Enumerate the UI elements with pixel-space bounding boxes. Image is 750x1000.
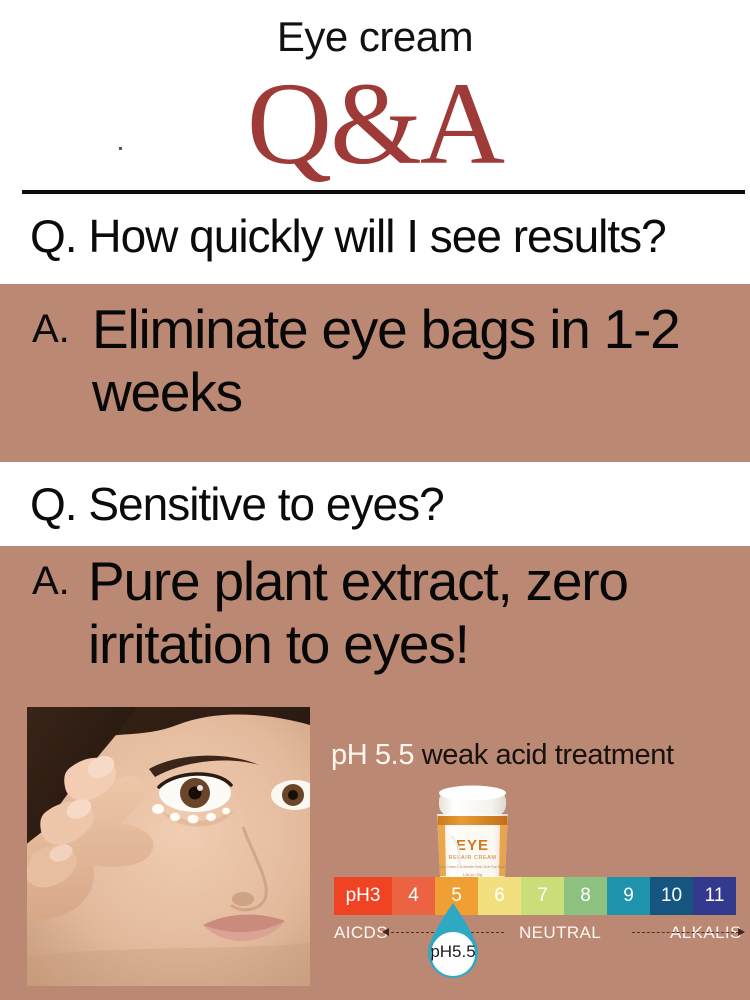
answer-marker: A. — [32, 558, 70, 604]
ph-axis: AICDS NEUTRAL ALKALIS — [334, 922, 746, 944]
answer-band-2: A. Pure plant extract, zero irritation t… — [0, 546, 750, 706]
svg-text:REPAIR CREAM: REPAIR CREAM — [449, 855, 497, 861]
axis-dash-right — [632, 932, 744, 934]
ph-cell-11: 11 — [693, 877, 736, 915]
question-marker: Q. — [30, 210, 77, 262]
question-marker: Q. — [30, 478, 77, 530]
answer-band-1: A. Eliminate eye bags in 1-2 weeks — [0, 284, 750, 462]
ph-marker-droplet: pH5.5 — [420, 902, 486, 982]
question-text: Sensitive to eyes? — [88, 478, 443, 530]
ph-value-highlight: pH 5.5 — [331, 739, 414, 771]
ph-headline: pH 5.5 weak acid treatment — [331, 738, 746, 772]
answer-text-2: Pure plant extract, zero irritation to e… — [88, 550, 738, 676]
question-text: How quickly will I see results? — [88, 210, 665, 262]
ph-cell-9: 9 — [607, 877, 650, 915]
question-band-2: Q. Sensitive to eyes? — [0, 462, 750, 546]
svg-text:EYE: EYE — [456, 837, 489, 854]
answer-marker: A. — [32, 306, 70, 352]
kicker-text: Eye cream — [0, 14, 750, 60]
ph-scale: pH34567891011 — [334, 877, 736, 915]
poster-header: Eye cream Q&A — [0, 0, 750, 192]
poster-root: Eye cream Q&A Q. How quickly will I see … — [0, 0, 750, 1000]
axis-label-acids: AICDS — [334, 922, 388, 944]
ph-marker-label: pH5.5 — [420, 942, 486, 962]
question-band-1: Q. How quickly will I see results? — [0, 194, 750, 284]
model-photo — [27, 707, 310, 986]
ph-cell-7: 7 — [521, 877, 564, 915]
axis-label-neutral: NEUTRAL — [519, 922, 601, 944]
answer-text-1: Eliminate eye bags in 1-2 weeks — [92, 298, 722, 424]
ph-cell-8: 8 — [564, 877, 607, 915]
product-jar: EYE REPAIR CREAM Eye Cream Anti-Wrinkle … — [425, 784, 520, 884]
svg-text:Eye Cream Anti-Wrinkle Dark Ci: Eye Cream Anti-Wrinkle Dark Circle Eye B… — [440, 865, 505, 869]
question-1: Q. How quickly will I see results? — [30, 208, 666, 264]
ph-cell-10: 10 — [650, 877, 693, 915]
question-2: Q. Sensitive to eyes? — [30, 476, 444, 532]
ph-headline-rest: weak acid treatment — [414, 739, 674, 771]
bottom-panel: pH 5.5 weak acid treatment — [0, 706, 750, 1000]
arrow-right-icon — [738, 928, 745, 936]
page-title: Q&A — [0, 62, 750, 186]
decorative-speck — [119, 147, 122, 150]
ph-cell-ph3: pH3 — [334, 877, 392, 915]
arrow-left-icon — [382, 928, 389, 936]
